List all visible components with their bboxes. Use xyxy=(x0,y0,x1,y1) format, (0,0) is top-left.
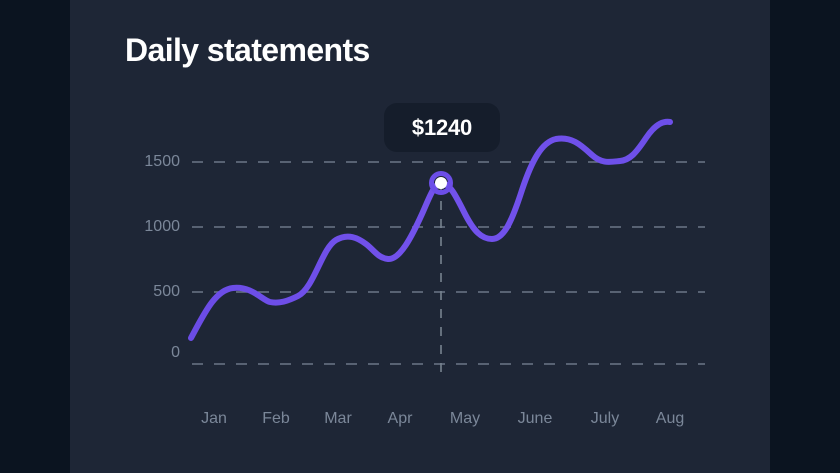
y-tick-0: 0 xyxy=(171,344,180,362)
y-axis: 1500 1000 500 0 xyxy=(112,0,180,473)
tooltip-value-label: $1240 xyxy=(412,115,472,141)
series-line-daily-statements xyxy=(191,122,670,338)
y-tick-500: 500 xyxy=(153,283,180,301)
y-tick-1500: 1500 xyxy=(144,153,180,171)
x-tick-feb: Feb xyxy=(262,410,290,428)
chart-screenshot: Daily statements 1500 10 xyxy=(0,0,840,473)
chart-card: Daily statements 1500 10 xyxy=(70,0,770,473)
x-tick-jan: Jan xyxy=(201,410,227,428)
x-tick-july: July xyxy=(591,410,619,428)
x-tick-may: May xyxy=(450,410,480,428)
x-tick-apr: Apr xyxy=(388,410,413,428)
active-point-marker[interactable] xyxy=(435,177,447,189)
value-tooltip: $1240 xyxy=(384,103,500,152)
x-axis: Jan Feb Mar Apr May June July Aug xyxy=(180,410,705,434)
x-tick-june: June xyxy=(518,410,553,428)
x-tick-aug: Aug xyxy=(656,410,684,428)
y-tick-1000: 1000 xyxy=(144,218,180,236)
x-tick-mar: Mar xyxy=(324,410,352,428)
